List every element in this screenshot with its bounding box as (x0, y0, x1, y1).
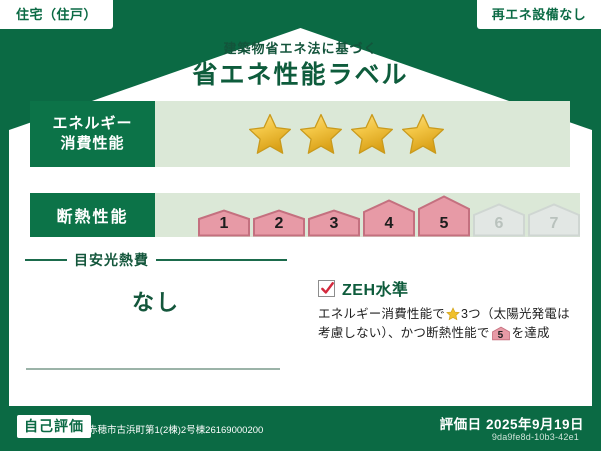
star-icon (248, 112, 292, 156)
utility-cost-title: 目安光熱費 (67, 250, 156, 270)
inline-house-number: 5 (492, 330, 510, 341)
insulation-level-6: 6 (473, 203, 525, 237)
insulation-level-number: 2 (253, 215, 305, 233)
insulation-performance-row: 断熱性能 1234567 (30, 193, 570, 237)
insulation-level-2: 2 (253, 209, 305, 237)
star-icon (401, 112, 445, 156)
insulation-level-1: 1 (198, 209, 250, 237)
cost-rule-right (156, 259, 287, 261)
insulation-performance-label: 断熱性能 (30, 193, 155, 237)
energy-performance-row: エネルギー 消費性能 (30, 101, 570, 167)
evaluation-date: 評価日 2025年9月19日 (440, 413, 584, 433)
inline-house-icon: 5 (492, 326, 510, 341)
energy-label-line2: 消費性能 (60, 134, 124, 154)
evaluation-date-label: 評価日 (440, 417, 482, 432)
cost-divider (26, 368, 280, 370)
insulation-level-5: 5 (418, 195, 470, 237)
insulation-level-4: 4 (363, 199, 415, 237)
cost-rule-left (25, 259, 67, 261)
property-address: 赤穂市古浜町第1(2棟)2号棟26169000200 (88, 422, 263, 436)
tag-renewable-energy: 再エネ設備なし (477, 0, 601, 29)
insulation-level-number: 6 (473, 215, 525, 233)
insulation-level-number: 5 (418, 215, 470, 233)
inline-star-icon (446, 307, 460, 321)
zeh-desc-part1: エネルギー消費性能で (318, 307, 445, 321)
insulation-level-scale: 1234567 (198, 193, 580, 237)
zeh-desc-part3: を達成 (512, 326, 550, 340)
energy-performance-label: エネルギー 消費性能 (30, 101, 155, 167)
zeh-description: エネルギー消費性能で 3つ（太陽光発電は考慮しない）、かつ断熱性能で 5 を達成 (318, 305, 573, 344)
star-icon (350, 112, 394, 156)
evaluation-id: 9da9fe8d-10b3-42e1 (492, 432, 579, 442)
insulation-level-number: 4 (363, 215, 415, 233)
star-icon (299, 112, 343, 156)
label-root: 住宅（住戸） 再エネ設備なし 建築物省エネ法に基づく 省エネ性能ラベル エネルギ… (0, 0, 601, 451)
insulation-scale-body: 1234567 (155, 193, 580, 237)
zeh-header: ZEH水準 (318, 276, 573, 300)
energy-label-line1: エネルギー (52, 114, 132, 134)
utility-cost-value: なし (25, 285, 287, 317)
zeh-title: ZEH水準 (342, 276, 409, 300)
zeh-block: ZEH水準 エネルギー消費性能で 3つ（太陽光発電は考慮しない）、かつ断熱性能で… (318, 276, 573, 344)
footer: 自己評価 赤穂市古浜町第1(2棟)2号棟26169000200 評価日 2025… (0, 406, 601, 451)
self-evaluation-badge: 自己評価 (17, 415, 91, 438)
insulation-level-number: 1 (198, 215, 250, 233)
insulation-level-7: 7 (528, 203, 580, 237)
energy-star-rating (155, 101, 570, 167)
page-title: 省エネ性能ラベル (0, 55, 601, 91)
insulation-level-number: 3 (308, 215, 360, 233)
tag-building-type: 住宅（住戸） (0, 0, 113, 29)
insulation-level-number: 7 (528, 215, 580, 233)
insulation-level-3: 3 (308, 209, 360, 237)
utility-cost-header: 目安光熱費 (25, 251, 287, 269)
evaluation-date-value: 2025年9月19日 (486, 417, 584, 432)
zeh-checkbox[interactable] (318, 280, 335, 297)
check-icon (320, 281, 335, 296)
